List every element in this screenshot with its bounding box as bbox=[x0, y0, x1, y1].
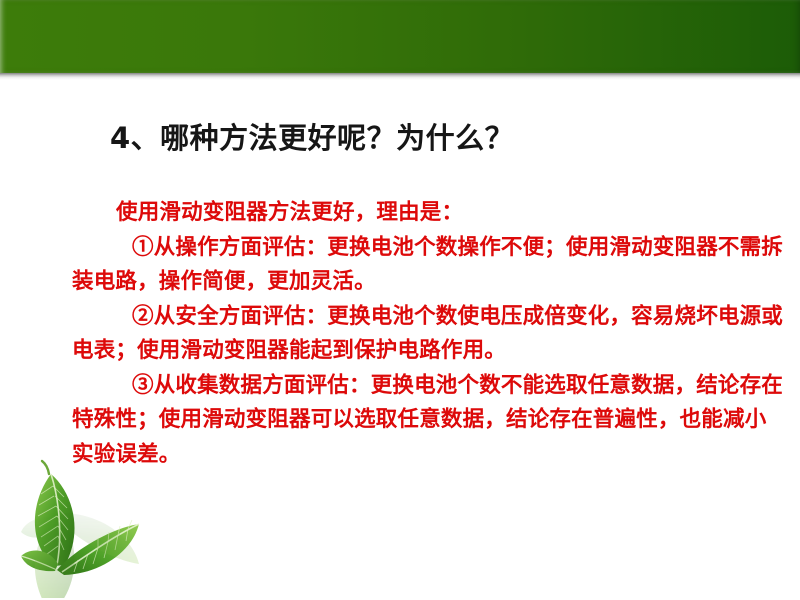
answer-reason-item-1: ①从操作方面评估：更换电池个数操作不便；使用滑动变阻器不需拆装电路，操作简便，更… bbox=[72, 231, 784, 300]
leaf-icon bbox=[8, 458, 178, 600]
page-title: 4、哪种方法更好呢？为什么？ bbox=[110, 115, 514, 157]
leaf-decoration bbox=[8, 458, 178, 600]
answer-reason-item-3: ③从收集数据方面评估：更换电池个数不能选取任意数据，结论存在特殊性；使用滑动变阻… bbox=[72, 369, 784, 473]
answer-lead-line: 使用滑动变阻器方法更好，理由是： bbox=[72, 196, 784, 231]
answer-body: 使用滑动变阻器方法更好，理由是： ①从操作方面评估：更换电池个数操作不便；使用滑… bbox=[72, 196, 784, 472]
leaf-reflection-icon bbox=[8, 488, 178, 598]
banner-inner-shading bbox=[0, 0, 800, 73]
top-green-banner bbox=[0, 0, 800, 73]
answer-reason-item-2: ②从安全方面评估：更换电池个数使电压成倍变化，容易烧坏电源或电表；使用滑动变阻器… bbox=[72, 300, 784, 369]
leaf-reflection bbox=[8, 488, 178, 598]
banner-drop-shadow bbox=[0, 73, 800, 80]
slide-canvas: 4、哪种方法更好呢？为什么？ 使用滑动变阻器方法更好，理由是： ①从操作方面评估… bbox=[0, 0, 800, 600]
